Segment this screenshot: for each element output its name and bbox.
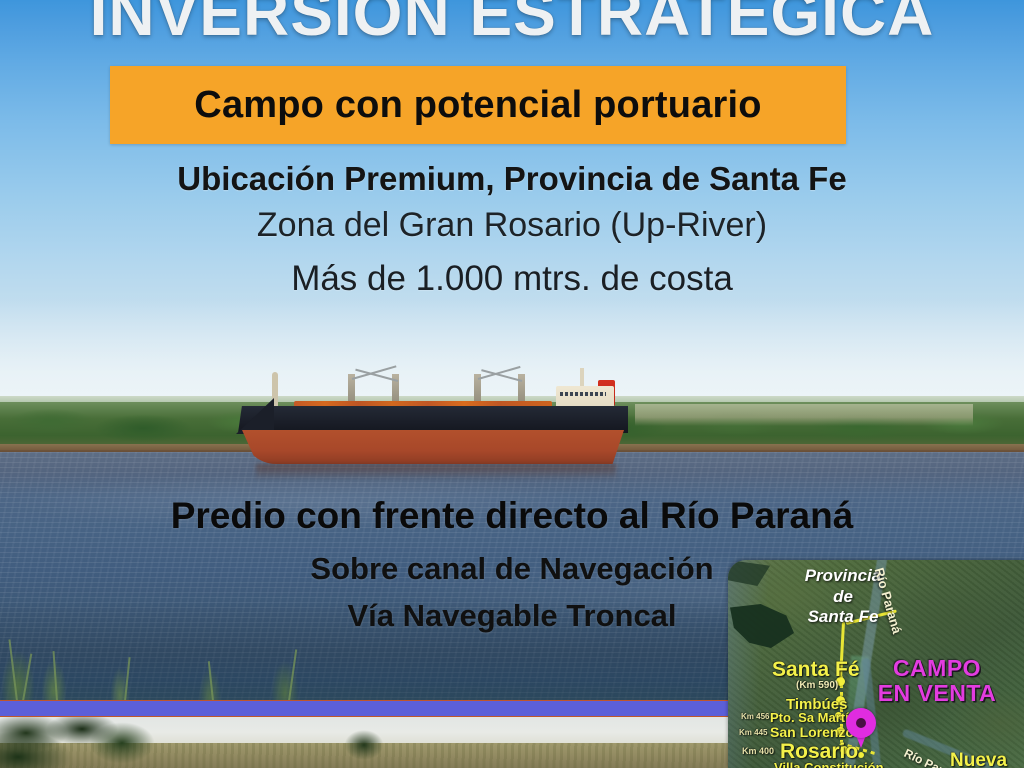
map-km-santafe: (Km 590) bbox=[796, 680, 838, 691]
map-city-sanlorenzo: San Lorenzo bbox=[770, 724, 854, 740]
highlight-banner-label: Campo con potencial portuario bbox=[194, 84, 761, 127]
map-label-nueva: Nueva bbox=[950, 750, 1007, 768]
hull-lower-rust bbox=[242, 430, 624, 464]
sand-bluff bbox=[635, 404, 973, 426]
field-tree-mid bbox=[330, 727, 400, 768]
campo-location-pin[interactable] bbox=[846, 708, 876, 748]
ship-reflection bbox=[256, 464, 616, 480]
map-km-sanlorenzo: Km 445 bbox=[739, 728, 767, 737]
bulk-carrier-vessel bbox=[232, 368, 636, 473]
lower-headline-river: Predio con frente directo al Río Paraná bbox=[0, 494, 1024, 538]
map-node-villaconstitucion bbox=[858, 752, 864, 758]
subtitle-location: Ubicación Premium, Provincia de Santa Fe bbox=[0, 160, 1024, 199]
map-city-villaconstitucion: Villa Constitución bbox=[774, 760, 884, 768]
poster-root: INVERSIÓN ESTRATÉGICA Campo con potencia… bbox=[0, 0, 1024, 768]
map-km-ptosanmartin: Km 456 bbox=[741, 712, 769, 721]
hull-upper-black bbox=[238, 406, 628, 433]
map-campo-en-venta-label: CAMPO EN VENTA bbox=[862, 656, 1012, 706]
highlight-banner: Campo con potencial portuario bbox=[110, 66, 846, 144]
map-campo-line-2: EN VENTA bbox=[862, 681, 1012, 706]
field-tree-left bbox=[0, 717, 165, 768]
map-city-santafe: Santa Fé bbox=[772, 658, 860, 682]
page-title: INVERSIÓN ESTRATÉGICA bbox=[0, 0, 1024, 50]
subtitle-block: Ubicación Premium, Provincia de Santa Fe… bbox=[0, 160, 1024, 302]
map-km-rosario: Km 400 bbox=[742, 746, 774, 756]
subtitle-coast: Más de 1.000 mtrs. de costa bbox=[0, 255, 1024, 302]
map-pin-dot-icon bbox=[856, 718, 866, 728]
subtitle-zone: Zona del Gran Rosario (Up-River) bbox=[0, 203, 1024, 249]
map-city-ptosanmartin: Pto. Sa Martín bbox=[770, 710, 857, 725]
map-inset[interactable]: Provincia de Santa Fe Santa Fé (Km 590) … bbox=[728, 560, 1024, 768]
map-campo-line-1: CAMPO bbox=[862, 656, 1012, 681]
map-province-line-1: Provincia bbox=[768, 566, 918, 587]
bridge-windows bbox=[560, 392, 606, 396]
